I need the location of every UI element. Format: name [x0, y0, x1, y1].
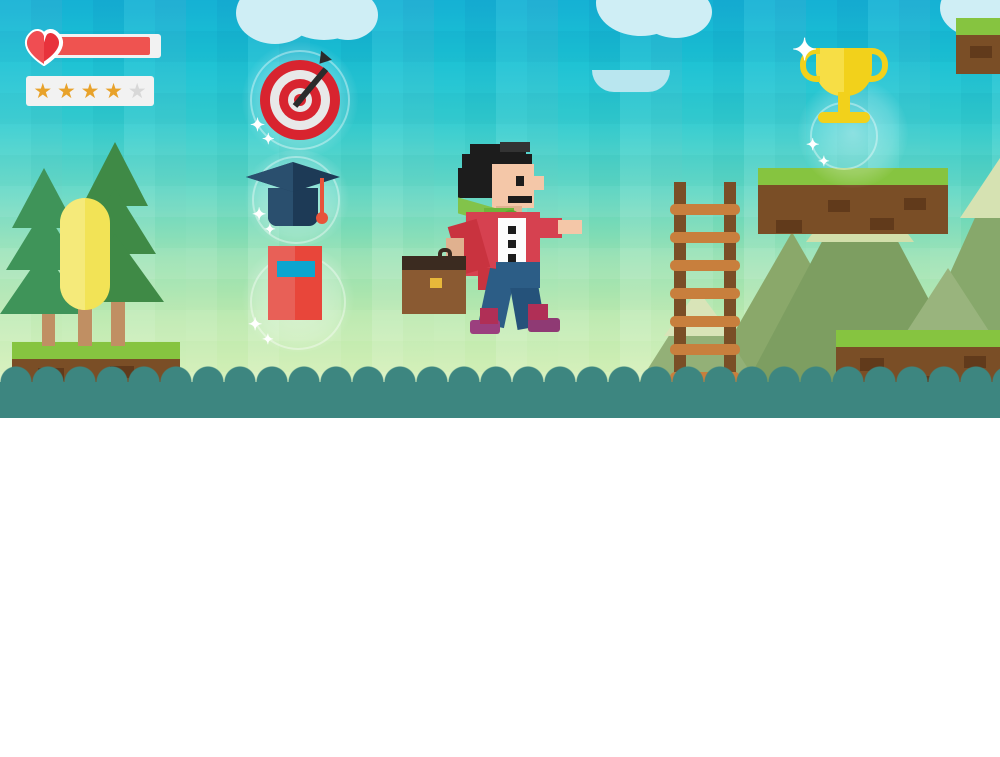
platform — [956, 18, 1000, 74]
sparkle-icon: ✦ — [264, 222, 276, 236]
star-empty-icon: ★ — [128, 81, 147, 102]
mountain-snow-cap — [960, 140, 1000, 218]
pixel-businessman-character — [388, 142, 588, 357]
sparkle-icon: ✦ — [262, 332, 274, 346]
heart-icon — [22, 26, 66, 66]
star-filled-icon: ★ — [81, 81, 100, 102]
poster-root: ✦ ✦ ✦ ✦ ✦ ✦ — [0, 0, 1000, 757]
sparkle-icon: ✦ — [248, 316, 262, 333]
bush-band — [0, 382, 1000, 418]
cloud-icon — [592, 70, 670, 92]
info-panel: KOMISJA DS. ABK PRZY KRASP — [0, 418, 1000, 757]
star-filled-icon: ★ — [57, 81, 76, 102]
star-filled-icon: ★ — [104, 81, 123, 102]
hud-stars: ★★★★★ — [26, 76, 154, 106]
sparkle-icon: ✦ — [792, 36, 817, 66]
sparkle-icon: ✦ — [806, 138, 819, 154]
bush-scallop-row — [0, 366, 1000, 382]
game-scene-illustration: ✦ ✦ ✦ ✦ ✦ ✦ — [0, 0, 1000, 418]
sparkle-icon: ✦ — [818, 154, 830, 168]
star-filled-icon: ★ — [33, 81, 52, 102]
sparkle-icon: ✦ — [262, 132, 275, 147]
